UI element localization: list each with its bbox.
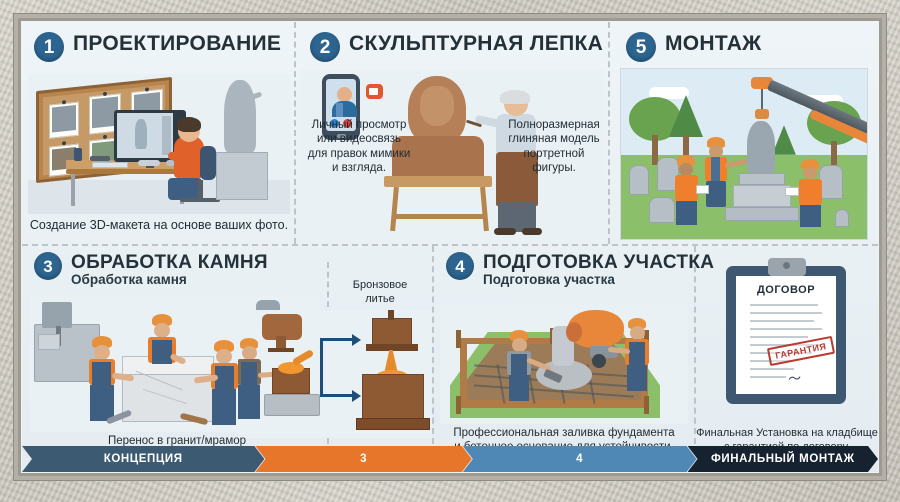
caption-line: и взгляда. <box>300 161 418 175</box>
contract-title: ДОГОВОР <box>736 284 836 296</box>
caption-line: Профессиональная заливка фундамента <box>436 426 692 440</box>
sculptor-shoe <box>522 228 542 235</box>
step-2-header: 2 СКУЛЬПТУРНАЯ ЛЕПКА <box>310 32 603 62</box>
monument-statue <box>747 121 775 173</box>
stool-brace <box>394 214 484 219</box>
formwork-stake <box>456 330 461 348</box>
infographic-poster: 1 ПРОЕКТИРОВАНИЕ <box>0 0 900 502</box>
step-1-header: 1 ПРОЕКТИРОВАНИЕ <box>34 32 281 62</box>
crane-cable <box>761 89 763 111</box>
worker-operating-mixer <box>622 318 654 384</box>
molten-bronze <box>278 362 304 374</box>
video-call-icon <box>366 84 383 99</box>
poster-content-board: 1 ПРОЕКТИРОВАНИЕ <box>22 22 878 472</box>
progress-segment-label: 3 <box>360 453 367 465</box>
desk-leg <box>71 174 75 206</box>
caller-avatar-shirt <box>336 103 343 117</box>
worker-supervisor <box>797 159 825 225</box>
step-4-title: ПОДГОТОВКА УЧАСТКА <box>483 253 714 272</box>
signature: 〜 <box>787 367 803 388</box>
worker-with-clipboard <box>673 155 701 223</box>
scene-bronze-casting <box>238 310 432 438</box>
step-3-subtitle: Обработка камня <box>71 273 268 288</box>
formwork-stake <box>456 396 461 414</box>
clipboard-icon <box>696 185 709 194</box>
worker-head <box>94 345 110 360</box>
reference-statue <box>224 80 256 152</box>
progress-ribbon: КОНЦЕПЦИЯ 3 4 ФИНАЛЬНЫЙ МОНТАЖ <box>22 446 878 472</box>
worker-with-rigging <box>703 137 731 207</box>
formwork-front <box>460 400 648 408</box>
progress-segment-3[interactable]: 4 <box>463 446 697 472</box>
worker-legs <box>627 365 647 391</box>
office-chair-stem <box>198 180 203 198</box>
pine-tree <box>669 95 703 137</box>
progress-segment-4[interactable]: ФИНАЛЬНЫЙ МОНТАЖ <box>688 446 878 472</box>
statue-plinth <box>216 152 268 200</box>
caption-line: Финальная Установка на кладбище <box>694 426 878 440</box>
guarantee-stamp: ГАРАНТИЯ <box>767 336 835 366</box>
step-panel-1: 1 ПРОЕКТИРОВАНИЕ <box>22 22 294 244</box>
text-line <box>750 328 822 330</box>
caption-line: Полноразмерная <box>500 118 608 132</box>
safety-vest <box>675 175 698 201</box>
text-line <box>750 304 818 306</box>
office-chair-base <box>180 198 220 202</box>
pen-cup <box>74 148 82 161</box>
designer-legs <box>168 178 202 200</box>
monument-base <box>725 207 799 221</box>
designer-hair <box>177 117 201 132</box>
step-1-title: ПРОЕКТИРОВАНИЕ <box>73 33 281 54</box>
mixer-chute <box>566 322 582 342</box>
worker-legs <box>90 385 114 421</box>
progress-segment-label: КОНЦЕПЦИЯ <box>104 453 183 465</box>
step-4-badge: 4 <box>446 252 474 280</box>
contract-paper: ДОГОВОР ГАРАНТИЯ 〜 <box>736 276 836 394</box>
contract-panel: ДОГОВОР ГАРАНТИЯ 〜 Финальная Установка <box>696 248 878 446</box>
worker-overalls <box>241 362 257 385</box>
3d-model-preview <box>135 119 147 149</box>
caption-line: глиняная модель <box>500 132 608 146</box>
clay-bust-face <box>420 86 454 126</box>
mixer-wheel <box>592 354 606 368</box>
caption-line: или видеосвязь <box>300 132 418 146</box>
casting-mold-body <box>362 374 424 420</box>
designer-arm <box>168 152 186 160</box>
stonemason-left <box>86 336 120 426</box>
worker-overalls <box>511 354 527 376</box>
formwork-left <box>460 338 467 408</box>
worker-head <box>512 338 527 352</box>
worker-legs <box>509 375 529 401</box>
divider-h-1 <box>22 244 878 246</box>
clipboard-clamp-hole <box>783 262 790 269</box>
worker-legs <box>706 181 726 207</box>
mold-flange <box>366 344 418 351</box>
progress-segment-label: 4 <box>576 453 583 465</box>
caption-line: литье <box>332 292 428 306</box>
step-4-header: 4 ПОДГОТОВКА УЧАСТКА Подготовка участка <box>446 252 714 288</box>
desk-edge <box>66 169 190 174</box>
tree-trunk <box>831 141 837 167</box>
arrow-tip-icon <box>352 334 361 346</box>
reference-photo <box>49 102 79 139</box>
office-chair-back <box>200 146 216 180</box>
pine-tree <box>772 125 796 154</box>
step-5-badge: 5 <box>626 32 656 62</box>
step-panel-2: 2 СКУЛЬПТУРНАЯ ЛЕПКА <box>296 22 608 244</box>
worker-head <box>630 326 645 340</box>
bronze-casting-label: Бронзовое литье <box>332 278 428 307</box>
machine-head <box>42 302 72 328</box>
caption-line: портретной <box>500 147 608 161</box>
hopper-bar <box>268 348 294 352</box>
scene-design-studio <box>28 74 290 214</box>
step-1-badge: 1 <box>34 32 64 62</box>
contract-illustration: ДОГОВОР ГАРАНТИЯ 〜 <box>726 256 846 404</box>
safety-vest <box>799 179 822 205</box>
worker-overalls <box>92 362 111 386</box>
step-panel-3: 3 ОБРАБОТКА КАМНЯ Обработка камня <box>22 248 432 446</box>
document-icon <box>785 187 799 196</box>
worker-head <box>242 346 257 360</box>
text-line <box>750 312 822 314</box>
worker-legs <box>212 389 236 425</box>
step-4-subtitle: Подготовка участка <box>483 273 714 288</box>
worker-head <box>154 323 170 338</box>
caption-line: Бронзовое <box>332 278 428 292</box>
caption-line: для правок мимики <box>300 147 418 161</box>
worker-overalls <box>629 342 645 366</box>
step-2-caption-left: Личный просмотр или видеосвязь для право… <box>300 118 418 176</box>
scene-foundation-prep <box>440 304 688 424</box>
mold-feed-tube <box>388 310 394 320</box>
software-toolbar <box>162 116 171 155</box>
machine-panel <box>38 334 60 350</box>
sculpting-stool-top <box>384 176 492 187</box>
text-line <box>750 320 814 322</box>
monument-cap <box>739 173 785 185</box>
stonemason-center <box>146 314 180 380</box>
step-1-caption: Создание 3D-макета на основе ваших фото. <box>28 218 290 234</box>
worker-legs <box>676 201 697 225</box>
step-5-header: 5 МОНТАЖ <box>626 32 761 62</box>
furnace-base <box>264 394 320 416</box>
caller-avatar-head <box>337 87 352 102</box>
worker-shirt <box>711 157 720 181</box>
progress-segment-label: ФИНАЛЬНЫЙ МОНТАЖ <box>711 453 855 465</box>
gravestone <box>835 209 849 227</box>
sculptor-hair <box>500 90 530 104</box>
text-line <box>750 376 786 378</box>
keyboard-small <box>90 156 110 161</box>
step-2-badge: 2 <box>310 32 340 62</box>
arrow-tip-icon <box>352 390 361 402</box>
casting-mold-base <box>356 418 430 430</box>
keyboard <box>138 160 160 166</box>
step-2-title: СКУЛЬПТУРНАЯ ЛЕПКА <box>349 33 603 54</box>
caption-line: фигуры. <box>500 161 608 175</box>
progress-segment-1[interactable]: КОНЦЕПЦИЯ <box>22 446 264 472</box>
worker-legs <box>800 205 821 227</box>
worker-legs <box>238 385 260 419</box>
progress-segment-2[interactable]: 3 <box>255 446 471 472</box>
papers <box>92 162 128 168</box>
formwork-stake <box>644 396 649 414</box>
worker-head <box>216 349 232 364</box>
step-3-title: ОБРАБОТКА КАМНЯ <box>71 253 268 272</box>
worker-overalls <box>152 340 172 364</box>
step-3-badge: 3 <box>34 252 62 280</box>
step-5-title: МОНТАЖ <box>665 33 761 54</box>
monitor-screen <box>117 113 173 158</box>
step-3-header: 3 ОБРАБОТКА КАМНЯ Обработка камня <box>34 252 268 288</box>
text-line <box>750 336 808 338</box>
step-panel-4: 4 ПОДГОТОВКА УЧАСТКА Подготовка участка <box>434 248 694 446</box>
step-2-caption-right: Полноразмерная глиняная модель портретно… <box>500 118 608 176</box>
scene-cemetery-installation <box>620 68 868 240</box>
crane-hook <box>755 109 769 119</box>
step-panel-5: 5 МОНТАЖ <box>610 22 878 244</box>
monument-pedestal <box>733 185 791 207</box>
worker-shoveling <box>504 330 536 394</box>
foundry-worker <box>238 338 266 422</box>
gravestone <box>649 197 675 223</box>
caption-line: Личный просмотр <box>300 118 418 132</box>
gravestone <box>629 165 649 195</box>
sculptor-shoe <box>494 228 516 235</box>
